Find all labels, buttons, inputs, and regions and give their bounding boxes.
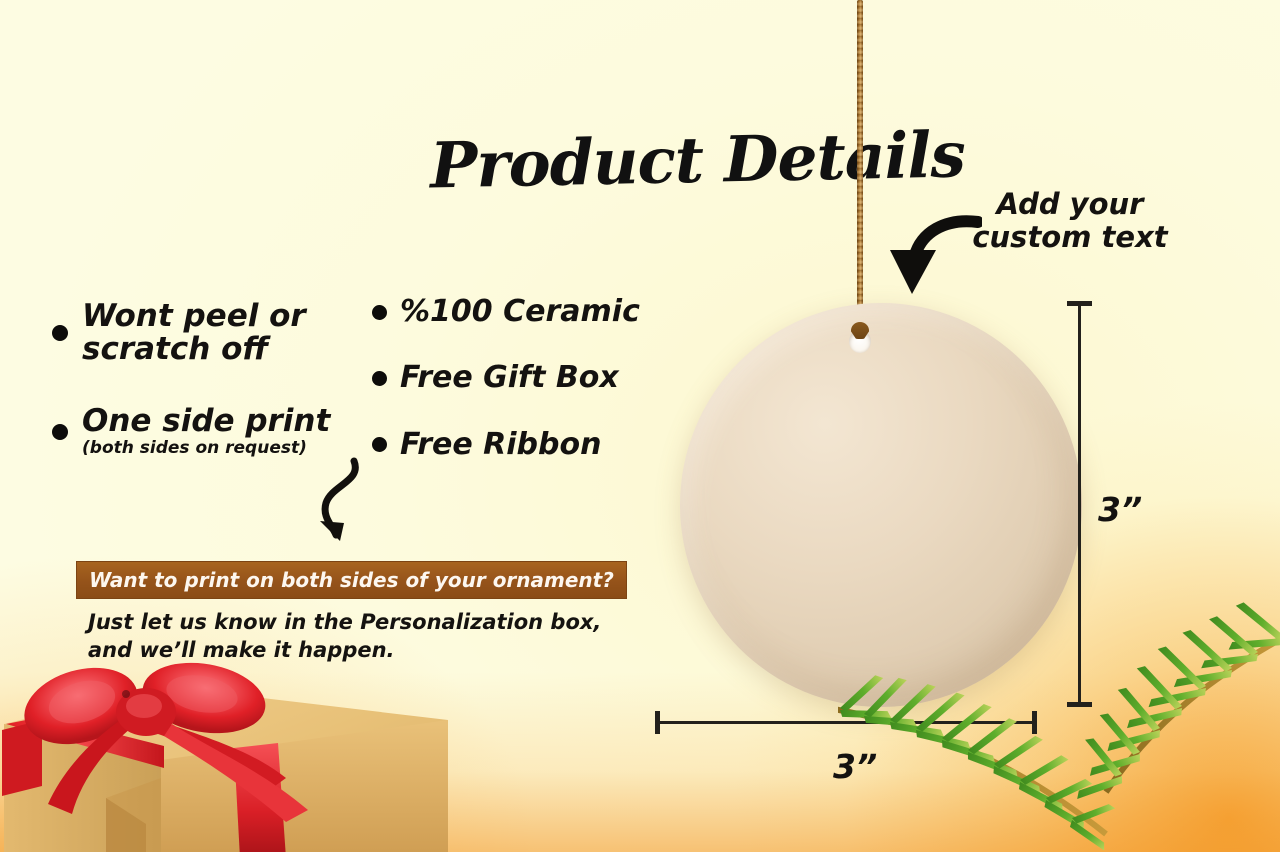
callout-line-2: custom text <box>955 221 1185 254</box>
list-item: %100 Ceramic <box>372 296 662 328</box>
list-item: One side print (both sides on request) <box>52 405 372 458</box>
ornament-cord <box>857 0 863 348</box>
width-dimension-cap-left <box>655 711 660 734</box>
bullet-icon <box>52 424 68 440</box>
gift-box-image <box>0 628 456 852</box>
bullet-icon <box>372 371 387 386</box>
height-dimension-label: 3” <box>1098 490 1142 529</box>
bullet-icon <box>52 325 68 341</box>
feature-line-1: One side print <box>82 403 330 439</box>
bullet-icon <box>372 305 387 320</box>
feature-label: One side print (both sides on request) <box>82 405 330 458</box>
feature-label: %100 Ceramic <box>400 296 640 328</box>
custom-text-callout: Add your custom text <box>955 188 1185 254</box>
both-sides-banner: Want to print on both sides of your orna… <box>76 561 627 599</box>
list-item: Free Ribbon <box>372 429 662 461</box>
curved-arrow-icon <box>292 455 372 555</box>
feature-line-2: scratch off <box>82 331 268 367</box>
feature-label: Free Ribbon <box>400 429 601 461</box>
feature-line-1: Wont peel or <box>82 298 306 334</box>
callout-line-1: Add your <box>955 188 1185 221</box>
page-title: Product Details <box>429 120 860 203</box>
list-item: Free Gift Box <box>372 362 662 394</box>
curved-down-arrow-icon <box>882 210 982 298</box>
height-dimension-cap-top <box>1067 301 1092 306</box>
pine-branch-image <box>838 596 1280 852</box>
feature-list-right: %100 Ceramic Free Gift Box Free Ribbon <box>372 296 662 495</box>
list-item: Wont peel or scratch off <box>52 300 372 367</box>
bullet-icon <box>372 437 387 452</box>
banner-headline: Want to print on both sides of your orna… <box>89 568 614 592</box>
product-details-graphic: Product Details Wont peel or scratch off… <box>0 0 1280 852</box>
feature-label: Free Gift Box <box>400 362 619 394</box>
feature-label: Wont peel or scratch off <box>82 300 306 367</box>
